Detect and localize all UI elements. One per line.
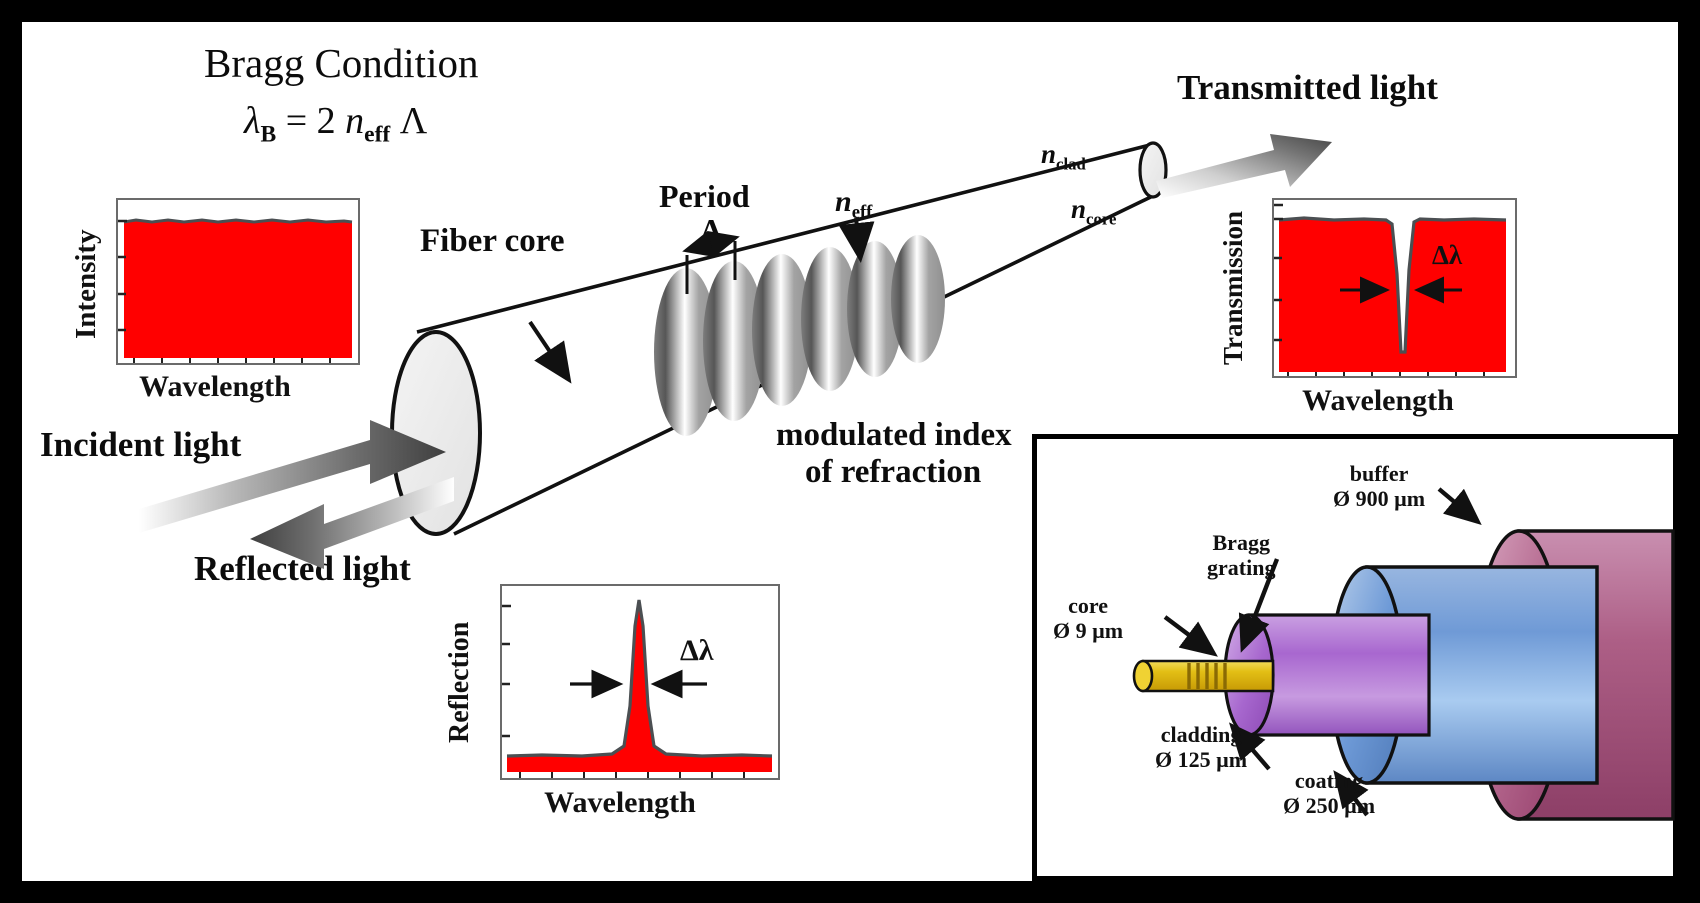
cladding-diameter: Ø 125 µm <box>1155 748 1247 773</box>
reflection-y-axis-label: Reflection <box>444 586 476 778</box>
transmission-plot-frame: Δλ <box>1272 198 1517 378</box>
cladding-name: cladding <box>1155 723 1247 748</box>
cladding-label: cladding Ø 125 µm <box>1155 723 1247 772</box>
intensity-spectrum-plot: Intensity Wavelength <box>70 198 360 413</box>
bragg-grating-label: Bragg grating <box>1207 531 1275 580</box>
buffer-pointer-arrow <box>1439 489 1477 521</box>
core-layer <box>1134 661 1273 691</box>
reflection-plot-frame: Δλ <box>500 584 780 780</box>
bragg-grating-name-line2: grating <box>1207 556 1275 581</box>
fiber-structure-inset-panel: buffer Ø 900 µm Bragg grating core Ø 9 µ… <box>1032 434 1678 881</box>
reflection-delta-lambda-label: Δλ <box>680 634 714 668</box>
transmission-x-axis-label: Wavelength <box>1238 384 1518 418</box>
transmission-curve <box>1274 200 1515 376</box>
buffer-label: buffer Ø 900 µm <box>1333 462 1425 511</box>
core-label: core Ø 9 µm <box>1053 594 1123 643</box>
reflection-x-ticks <box>520 772 744 778</box>
intensity-x-axis-label: Wavelength <box>70 370 360 404</box>
diagram-canvas: Bragg Condition λB = 2 neff Λ Transmitte… <box>22 22 1678 881</box>
intensity-plot-frame <box>116 198 360 365</box>
reflection-fill <box>507 600 772 772</box>
outer-black-frame: Bragg Condition λB = 2 neff Λ Transmitte… <box>0 0 1700 903</box>
core-diameter: Ø 9 µm <box>1053 619 1123 644</box>
buffer-diameter: Ø 900 µm <box>1333 487 1425 512</box>
reflection-y-ticks <box>502 606 511 736</box>
grating-plane-6 <box>891 235 945 363</box>
coating-name: coating <box>1283 769 1375 794</box>
coating-diameter: Ø 250 µm <box>1283 794 1375 819</box>
intensity-curve <box>118 200 358 363</box>
intensity-fill <box>124 220 352 358</box>
coating-label: coating Ø 250 µm <box>1283 769 1375 818</box>
bragg-grating-name-line1: Bragg <box>1207 531 1275 556</box>
bragg-grating-planes <box>654 235 945 436</box>
buffer-name: buffer <box>1333 462 1425 487</box>
intensity-x-ticks <box>134 358 330 363</box>
intensity-y-axis-label: Intensity <box>70 204 103 364</box>
transmission-y-axis-label: Transmission <box>1218 198 1249 378</box>
fiber-core-pointer-arrow <box>530 322 567 377</box>
core-pointer-arrow <box>1165 617 1213 653</box>
transmitted-light-arrow <box>1156 134 1332 198</box>
reflection-spectrum-plot: Reflection Δλ <box>440 584 780 834</box>
n-eff-pointer-arrow <box>856 218 860 255</box>
transmission-x-ticks <box>1288 372 1484 376</box>
transmission-delta-lambda-label: Δλ <box>1432 240 1462 271</box>
period-dimension-arrow <box>688 238 734 250</box>
reflection-x-axis-label: Wavelength <box>470 786 770 820</box>
transmission-spectrum-plot: Transmission <box>1212 198 1517 430</box>
intensity-trace <box>124 220 352 222</box>
core-name: core <box>1053 594 1123 619</box>
reflection-curve <box>502 586 778 778</box>
